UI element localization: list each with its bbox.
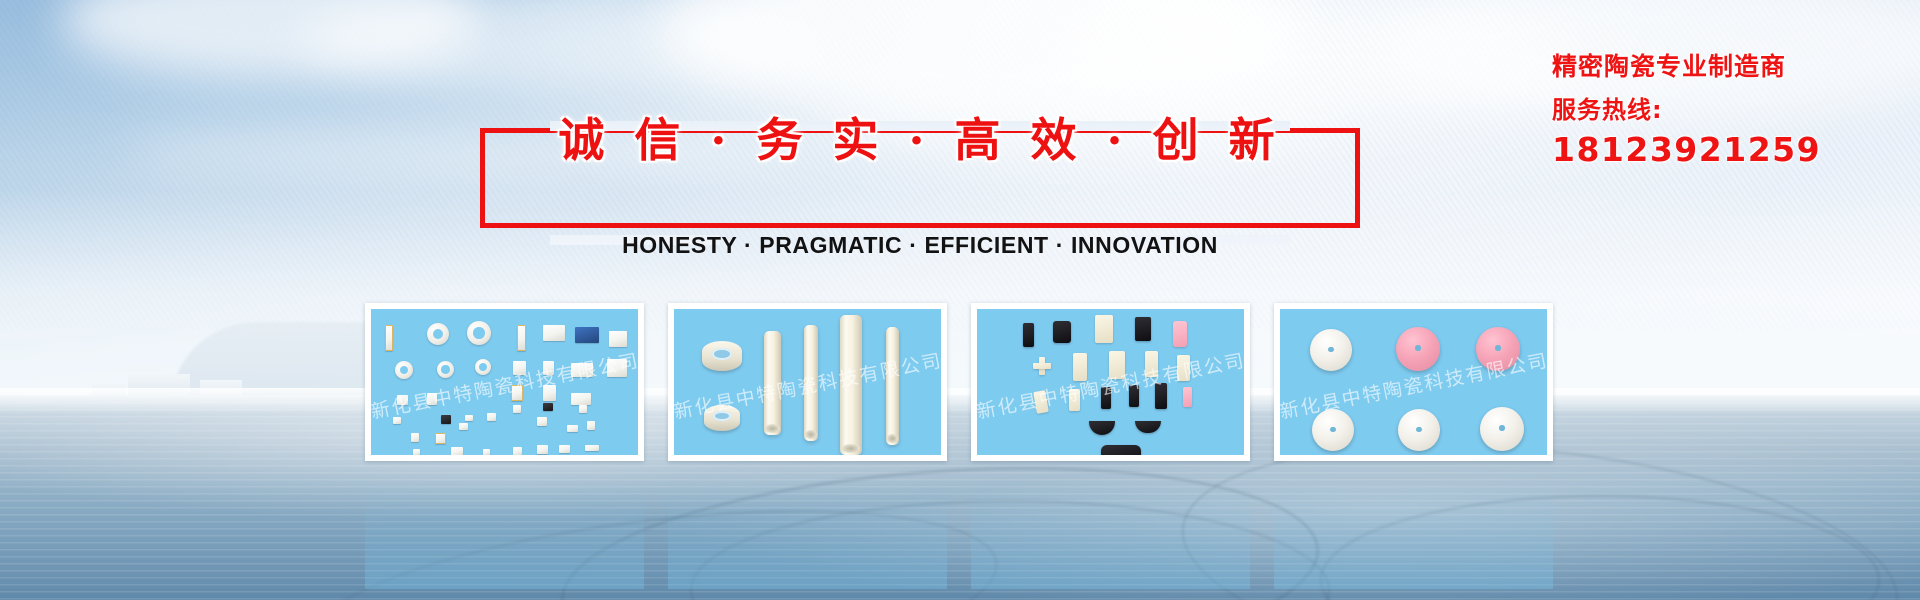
- headline-block: 诚 信 · 务 实 · 高 效 · 创 新 HONESTY · PRAGMATI…: [480, 128, 1360, 238]
- product-panel-ceramic-blocks[interactable]: 新化县中特陶瓷科技有限公司: [971, 303, 1250, 461]
- panel-reflection: [365, 469, 644, 589]
- slogan-english: HONESTY · PRAGMATIC · EFFICIENT · INNOVA…: [480, 232, 1360, 259]
- disc-hole: [1499, 425, 1504, 430]
- product-panel-smd-components[interactable]: 新化县中特陶瓷科技有限公司: [365, 303, 644, 461]
- company-tagline: 精密陶瓷专业制造商: [1552, 50, 1912, 84]
- product-panel-ceramic-discs[interactable]: 新化县中特陶瓷科技有限公司: [1274, 303, 1553, 461]
- hotline-label: 服务热线:: [1552, 90, 1912, 130]
- contact-block: 精密陶瓷专业制造商 服务热线: 18123921259: [1552, 50, 1912, 170]
- disc-hole: [1495, 345, 1500, 350]
- disc-hole: [1416, 427, 1421, 432]
- hero-banner: 诚 信 · 务 实 · 高 效 · 创 新 HONESTY · PRAGMATI…: [0, 0, 1920, 600]
- panel-reflection: [971, 469, 1250, 589]
- slogan-chinese: 诚 信 · 务 实 · 高 效 · 创 新: [480, 104, 1360, 170]
- product-panel-row: 新化县中特陶瓷科技有限公司 新化县中特陶瓷科技有限公司: [365, 303, 1555, 510]
- disc-hole: [1328, 347, 1333, 352]
- hotline-number[interactable]: 18123921259: [1552, 130, 1912, 170]
- disc-hole: [1330, 427, 1335, 432]
- product-panel-ceramic-tubes[interactable]: 新化县中特陶瓷科技有限公司: [668, 303, 947, 461]
- disc-hole: [1415, 345, 1420, 350]
- panel-reflection: [1274, 469, 1553, 589]
- panel-watermark: 新化县中特陶瓷科技有限公司: [371, 346, 638, 425]
- panel-reflection: [668, 469, 947, 589]
